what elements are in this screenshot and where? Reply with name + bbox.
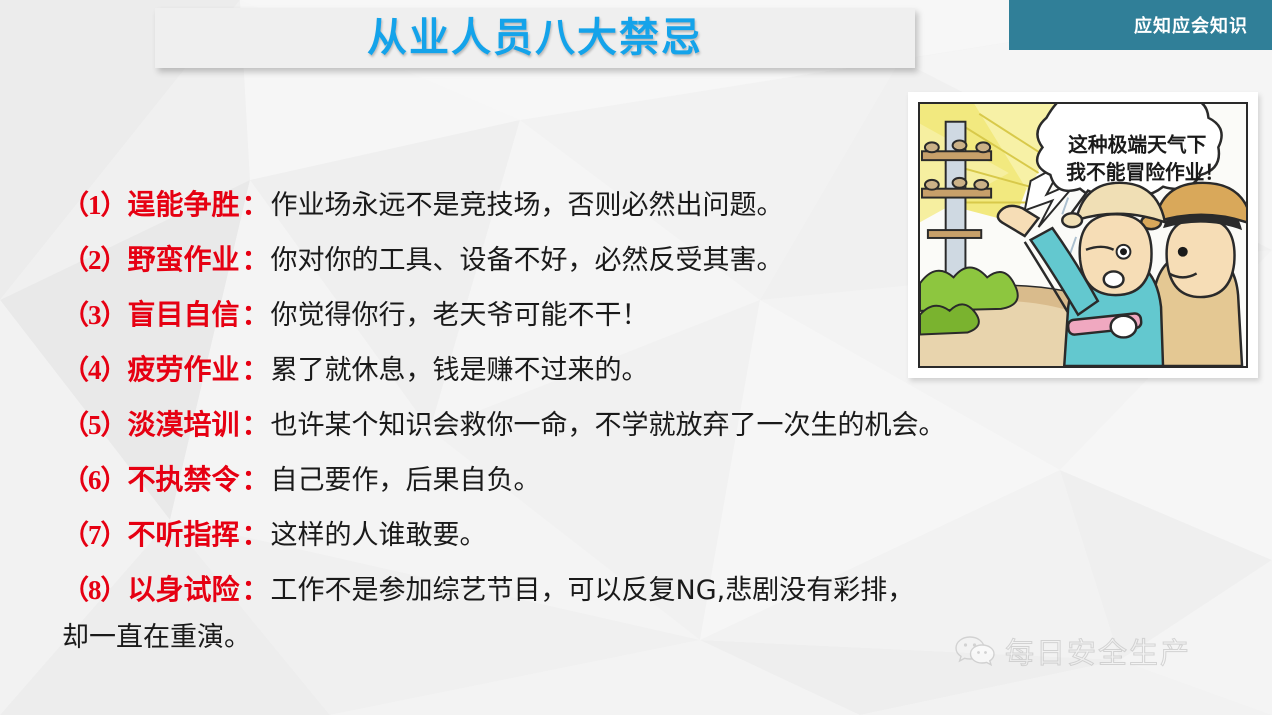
list-item-term: 以身试险 (128, 568, 240, 608)
title-banner: 从业人员八大禁忌 (155, 8, 915, 68)
list-item-term: 盲目自信 (128, 293, 240, 333)
list-item-colon: ： (242, 183, 270, 223)
page-title: 从业人员八大禁忌 (367, 18, 703, 58)
corner-badge-label: 应知应会知识 (1134, 12, 1248, 38)
list-continuation-text: 却一直在重演。 (62, 615, 251, 654)
list-item-colon: ： (242, 568, 270, 608)
list-item-colon: ： (242, 513, 270, 553)
list-item-body: 你觉得你行，老天爷可能不干！ (271, 293, 649, 332)
list-item-term: 不执禁令 (128, 458, 240, 498)
list-item-index: （4） (62, 348, 127, 387)
list-item-body: 自己要作，后果自负。 (271, 458, 541, 497)
list-item-index: （7） (62, 513, 127, 552)
list-item-body: 也许某个知识会救你一命，不学就放弃了一次生的机会。 (271, 403, 946, 442)
wechat-watermark: 每日安全生产 (955, 630, 1191, 672)
list-item-term: 逞能争胜 (128, 183, 240, 223)
list-item-term: 不听指挥 (128, 513, 240, 553)
illustration-frame: 这种极端天气下 我不能冒险作业！ (908, 92, 1258, 378)
list-item-index: （1） (62, 183, 127, 222)
list-item-index: （6） (62, 458, 127, 497)
safety-cartoon-image: 这种极端天气下 我不能冒险作业！ (918, 102, 1248, 368)
list-item-colon: ： (242, 403, 270, 443)
speech-bubble-line-1: 这种极端天气下 (1068, 133, 1207, 156)
list-item-body: 这样的人谁敢要。 (271, 513, 487, 552)
list-item-term: 淡漠培训 (128, 403, 240, 443)
watermark-label: 每日安全生产 (1005, 630, 1191, 672)
list-item-colon: ： (242, 458, 270, 498)
corner-badge: 应知应会知识 (1009, 0, 1272, 50)
list-item-index: （8） (62, 568, 127, 607)
wechat-icon (955, 634, 995, 668)
list-item: （8） 以身试险 ： 工作不是参加综艺节目，可以反复NG,悲剧没有彩排， (62, 560, 1092, 615)
list-item: （5） 淡漠培训 ： 也许某个知识会救你一命，不学就放弃了一次生的机会。 (62, 395, 1092, 450)
list-item-body: 累了就休息，钱是赚不过来的。 (271, 348, 649, 387)
list-item-term: 疲劳作业 (128, 348, 240, 388)
list-item-body: 作业场永远不是竞技场，否则必然出问题。 (271, 183, 784, 222)
list-item-body: 工作不是参加综艺节目，可以反复NG,悲剧没有彩排， (271, 568, 915, 607)
list-item-index: （5） (62, 403, 127, 442)
list-item: （6） 不执禁令 ： 自己要作，后果自负。 (62, 450, 1092, 505)
list-item-index: （3） (62, 293, 127, 332)
list-item-colon: ： (242, 293, 270, 333)
list-item-colon: ： (242, 238, 270, 278)
list-item-body: 你对你的工具、设备不好，必然反受其害。 (271, 238, 784, 277)
list-item: （7） 不听指挥 ： 这样的人谁敢要。 (62, 505, 1092, 560)
list-item-colon: ： (242, 348, 270, 388)
speech-bubble-line-2: 我不能冒险作业！ (1066, 161, 1224, 184)
list-item-term: 野蛮作业 (128, 238, 240, 278)
slide-canvas: 从业人员八大禁忌 应知应会知识 （1） 逞能争胜 ： 作业场永远不是竞技场，否则… (0, 0, 1272, 715)
list-item-index: （2） (62, 238, 127, 277)
